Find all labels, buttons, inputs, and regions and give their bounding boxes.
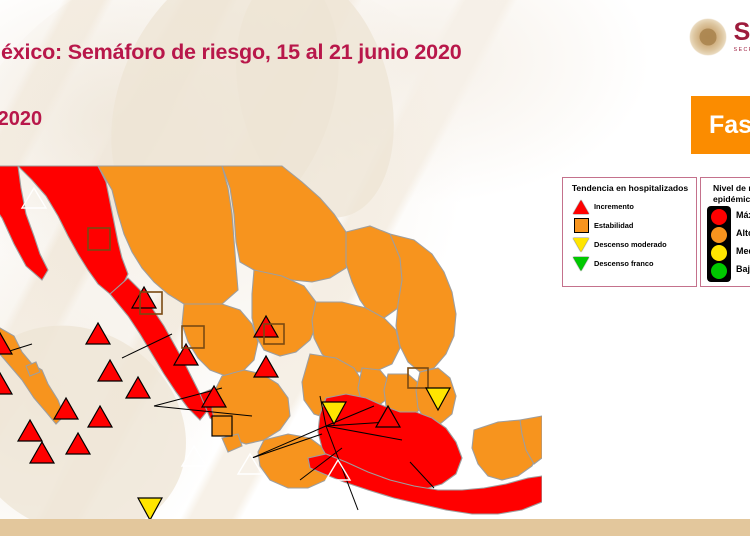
triangle-up-red-icon [568,200,594,214]
lamp-bajo [711,263,727,279]
state-baja-california-sur [0,328,64,424]
marker-incremento [30,442,54,463]
square-orange-icon [568,218,594,233]
marker-descenso-moderado [138,498,162,520]
marker-incremento [18,420,42,441]
mexican-eagle-seal-icon [689,18,727,56]
legend-row-descenso-franco: Descenso franco [568,255,692,273]
legend-label-descenso-franco: Descenso franco [594,259,654,268]
marker-incremento [0,373,12,394]
legend-label-alto: Alto [736,224,750,242]
lamp-alto [711,227,727,243]
marker-incremento [66,433,90,454]
triangle-down-yellow-icon [568,238,594,252]
legend-row-descenso-moderado: Descenso moderado [568,236,692,254]
salud-logo: SALUD SECRETARÍA DE SALUD [689,18,750,56]
legend-tendencia-title: Tendencia en hospitalizados [568,183,692,194]
footer-bar [0,519,750,536]
legend-nivel-title: Nivel de riesgo epidémico [707,183,750,204]
fase-badge: Fase 3 [691,96,750,154]
marker-incremento [98,360,122,381]
marker-estabilidad-filled [212,416,232,436]
state-colima [222,434,242,452]
page-subtitle: 12 de junio, 2020 [0,108,402,131]
marker-incremento [126,377,150,398]
marker-incremento [88,406,112,427]
fase-badge-label: Fase 3 [709,111,750,140]
slide-canvas: COVID-19 México: Semáforo de riesgo, 15 … [0,0,750,536]
page-title: COVID-19 México: Semáforo de riesgo, 15 … [0,40,580,65]
logo-subtext: SECRETARÍA DE SALUD [734,48,750,53]
legend-row-estabilidad: Estabilidad [568,217,692,235]
marker-incremento-outline [182,446,206,466]
legend-label-incremento: Incremento [594,202,634,211]
lamp-maximo [711,209,727,225]
state-coahuila [222,166,352,282]
legend-label-medio: Medio [736,242,750,260]
legend-row-incremento: Incremento [568,198,692,216]
legend-nivel-riesgo-epidemico: Nivel de riesgo epidémico Máximo Alto Me… [700,177,750,287]
mexico-semaforo-map[interactable]: .st-red { fill:#ff0000; stroke:#9e9e9e; … [0,158,542,526]
legend-nivel-body: Máximo Alto Medio Bajo [707,206,750,282]
marker-incremento [254,356,278,377]
logo-text-group: SALUD SECRETARÍA DE SALUD [734,20,750,53]
legend-label-maximo: Máximo [736,206,750,224]
legend-label-estabilidad: Estabilidad [594,221,633,230]
state-tamaulipas [390,234,456,372]
state-zacatecas [252,270,318,356]
legend-label-descenso-moderado: Descenso moderado [594,240,667,249]
triangle-down-green-icon [568,257,594,271]
legend-nivel-labels: Máximo Alto Medio Bajo [736,206,750,278]
logo-wordmark: SALUD [734,20,750,45]
lamp-medio [711,245,727,261]
traffic-light-icon [707,206,731,282]
legend-label-bajo: Bajo [736,260,750,278]
map-svg[interactable]: .st-red { fill:#ff0000; stroke:#9e9e9e; … [0,158,542,526]
legend-tendencia-hospitalizados: Tendencia en hospitalizados Incremento E… [562,177,697,287]
marker-incremento [86,323,110,344]
